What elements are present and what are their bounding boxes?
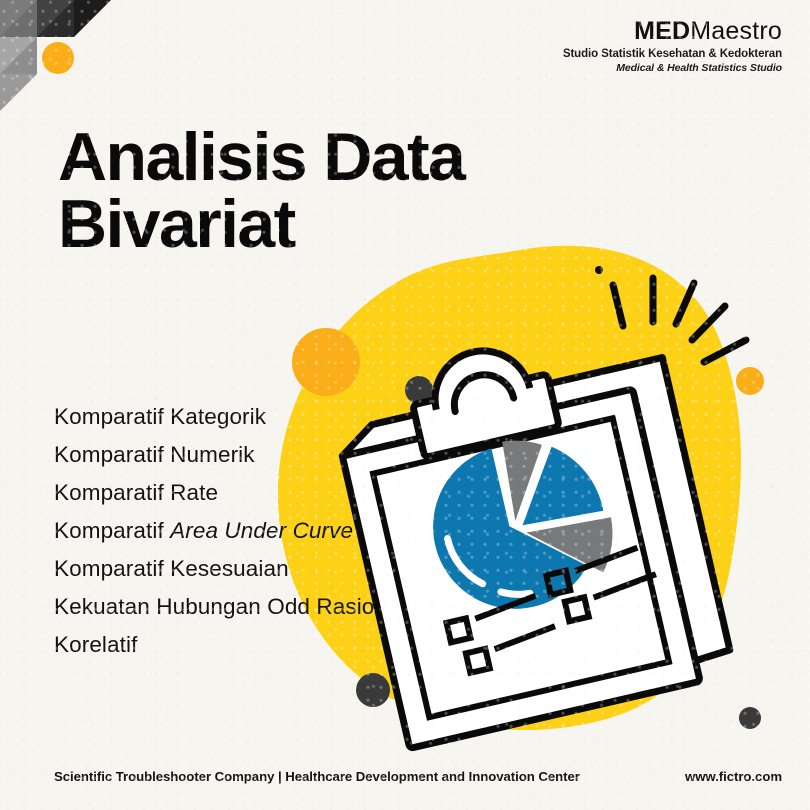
footer-website[interactable]: www.fictro.com bbox=[685, 769, 782, 784]
list-item-plain: Komparatif Numerik bbox=[54, 442, 255, 467]
footer-tagline: Scientific Troubleshooter Company | Heal… bbox=[54, 769, 580, 784]
logo-word-bold: MED bbox=[634, 17, 690, 45]
orange-circle-left bbox=[292, 328, 360, 396]
list-item: Komparatif Kesesuaian bbox=[54, 558, 374, 581]
brand-logo: MEDMaestro Studio Statistik Kesehatan & … bbox=[563, 18, 782, 74]
list-item: Komparatif Numerik bbox=[54, 444, 374, 467]
dark-dot-lower-left bbox=[356, 673, 390, 707]
orange-dot-right bbox=[736, 367, 764, 395]
list-item: Komparatif Rate bbox=[54, 482, 374, 505]
sparkle-dot-icon bbox=[595, 266, 603, 274]
list-item: Komparatif Kategorik bbox=[54, 406, 374, 429]
list-item: Komparatif Area Under Curve bbox=[54, 520, 374, 543]
list-item-plain: Kekuatan Hubungan Odd Rasio bbox=[54, 594, 374, 619]
logo-tagline-id: Studio Statistik Kesehatan & Kedokteran bbox=[563, 48, 782, 60]
page-title: Analisis Data Bivariat bbox=[58, 124, 464, 259]
list-item-plain: Korelatif bbox=[54, 632, 137, 657]
list-item: Korelatif bbox=[54, 634, 374, 657]
corner-accent-dot bbox=[42, 42, 74, 74]
poster-canvas: MEDMaestro Studio Statistik Kesehatan & … bbox=[0, 0, 810, 810]
list-item: Kekuatan Hubungan Odd Rasio bbox=[54, 596, 374, 619]
list-item-italic: Area Under Curve bbox=[170, 518, 353, 543]
list-item-plain: Komparatif Kesesuaian bbox=[54, 556, 289, 581]
dark-dot-lower-right bbox=[739, 707, 761, 729]
logo-word-light: Maestro bbox=[690, 17, 782, 45]
list-item-plain: Komparatif Kategorik bbox=[54, 404, 266, 429]
list-item-plain: Komparatif bbox=[54, 518, 170, 543]
logo-tagline-en: Medical & Health Statistics Studio bbox=[563, 62, 782, 74]
topic-list: Komparatif Kategorik Komparatif Numerik … bbox=[54, 406, 374, 672]
list-item-plain: Komparatif Rate bbox=[54, 480, 218, 505]
logo-wordmark: MEDMaestro bbox=[563, 18, 782, 44]
